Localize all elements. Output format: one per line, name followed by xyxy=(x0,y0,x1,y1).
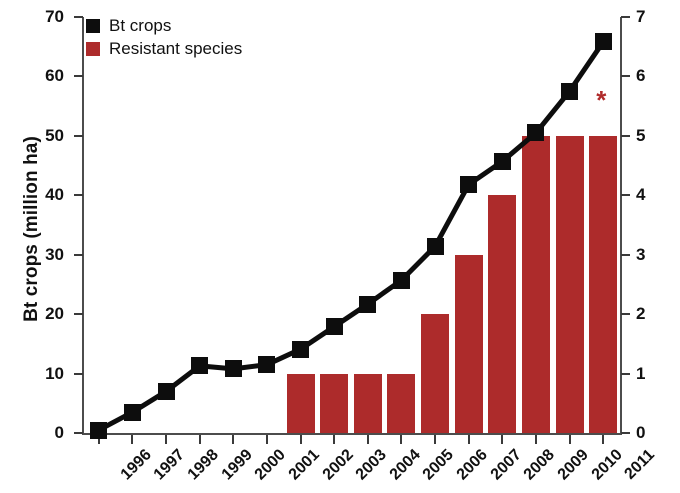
left-tick-mark xyxy=(74,373,83,375)
right-tick-mark xyxy=(621,194,630,196)
x-tick-label: 2004 xyxy=(387,447,423,483)
x-tick-label: 2000 xyxy=(253,447,289,483)
left-tick-mark xyxy=(74,313,83,315)
left-tick-label: 10 xyxy=(24,365,64,382)
left-tick-label: 40 xyxy=(24,186,64,203)
x-tick-label: 2003 xyxy=(354,447,390,483)
x-tick-label: 2006 xyxy=(454,447,490,483)
left-tick-mark xyxy=(74,254,83,256)
x-tick-label: 2001 xyxy=(286,447,322,483)
x-tick-label: 2005 xyxy=(421,447,457,483)
x-tick-mark xyxy=(501,435,503,444)
bottom-axis-spine xyxy=(82,433,622,435)
x-tick-label: 2009 xyxy=(555,447,591,483)
x-tick-label: 2002 xyxy=(320,447,356,483)
marker-bt-crops xyxy=(158,383,175,400)
x-tick-label: 2010 xyxy=(589,447,625,483)
bar-resistant-species xyxy=(421,314,449,433)
left-tick-mark xyxy=(74,135,83,137)
marker-bt-crops xyxy=(258,356,275,373)
left-tick-label: 60 xyxy=(24,67,64,84)
asterisk-annotation: * xyxy=(596,87,606,113)
x-tick-label: 2007 xyxy=(488,447,524,483)
x-tick-mark xyxy=(300,435,302,444)
legend-item-bt-crops: Bt crops xyxy=(86,14,242,37)
x-tick-mark xyxy=(569,435,571,444)
marker-bt-crops xyxy=(595,33,612,50)
left-tick-label: 50 xyxy=(24,127,64,144)
x-tick-label: 2008 xyxy=(522,447,558,483)
marker-bt-crops xyxy=(191,357,208,374)
right-tick-label: 0 xyxy=(636,424,676,441)
bar-resistant-species xyxy=(387,374,415,433)
x-tick-label: 1999 xyxy=(219,447,255,483)
marker-bt-crops xyxy=(359,296,376,313)
x-tick-mark xyxy=(165,435,167,444)
right-tick-mark xyxy=(621,254,630,256)
right-tick-label: 1 xyxy=(636,365,676,382)
left-tick-mark xyxy=(74,75,83,77)
bar-resistant-species xyxy=(488,195,516,433)
legend-swatch-resistant-species xyxy=(86,42,100,56)
marker-bt-crops xyxy=(90,422,107,439)
bar-resistant-species xyxy=(522,136,550,433)
x-tick-label: 1997 xyxy=(152,447,188,483)
x-tick-mark xyxy=(232,435,234,444)
x-tick-mark xyxy=(468,435,470,444)
left-tick-mark xyxy=(74,432,83,434)
marker-bt-crops xyxy=(292,341,309,358)
left-tick-label: 30 xyxy=(24,246,64,263)
x-tick-mark xyxy=(434,435,436,444)
bar-resistant-species xyxy=(287,374,315,433)
legend-item-resistant-species: Resistant species xyxy=(86,37,242,60)
x-tick-mark xyxy=(131,435,133,444)
left-tick-label: 20 xyxy=(24,305,64,322)
chart-figure: Bt crops (million ha) Resistant species … xyxy=(0,0,680,493)
marker-bt-crops xyxy=(460,176,477,193)
marker-bt-crops xyxy=(561,83,578,100)
x-tick-mark xyxy=(400,435,402,444)
right-tick-mark xyxy=(621,75,630,77)
x-tick-mark xyxy=(367,435,369,444)
right-tick-mark xyxy=(621,16,630,18)
x-tick-label: 1998 xyxy=(185,447,221,483)
bar-resistant-species xyxy=(320,374,348,433)
right-tick-label: 3 xyxy=(636,246,676,263)
x-tick-mark xyxy=(266,435,268,444)
marker-bt-crops xyxy=(393,272,410,289)
x-tick-mark xyxy=(199,435,201,444)
right-tick-mark xyxy=(621,313,630,315)
legend-label-resistant-species: Resistant species xyxy=(109,40,242,57)
right-tick-mark xyxy=(621,135,630,137)
x-tick-mark xyxy=(535,435,537,444)
left-tick-mark xyxy=(74,194,83,196)
left-tick-label: 70 xyxy=(24,8,64,25)
right-tick-label: 7 xyxy=(636,8,676,25)
marker-bt-crops xyxy=(427,238,444,255)
chart-legend: Bt crops Resistant species xyxy=(86,14,242,60)
left-tick-label: 0 xyxy=(24,424,64,441)
marker-bt-crops xyxy=(124,404,141,421)
right-tick-label: 5 xyxy=(636,127,676,144)
right-tick-label: 6 xyxy=(636,67,676,84)
x-tick-label: 2011 xyxy=(622,447,658,483)
x-tick-mark xyxy=(602,435,604,444)
marker-bt-crops xyxy=(225,360,242,377)
right-tick-label: 4 xyxy=(636,186,676,203)
marker-bt-crops xyxy=(494,153,511,170)
left-tick-mark xyxy=(74,16,83,18)
right-tick-mark xyxy=(621,432,630,434)
right-tick-label: 2 xyxy=(636,305,676,322)
legend-label-bt-crops: Bt crops xyxy=(109,17,171,34)
marker-bt-crops xyxy=(527,124,544,141)
bar-resistant-species xyxy=(455,255,483,433)
x-tick-label: 1996 xyxy=(118,447,154,483)
x-tick-mark xyxy=(333,435,335,444)
marker-bt-crops xyxy=(326,318,343,335)
bar-resistant-species xyxy=(589,136,617,433)
legend-swatch-bt-crops xyxy=(86,19,100,33)
bar-resistant-species xyxy=(556,136,584,433)
right-tick-mark xyxy=(621,373,630,375)
bar-resistant-species xyxy=(354,374,382,433)
